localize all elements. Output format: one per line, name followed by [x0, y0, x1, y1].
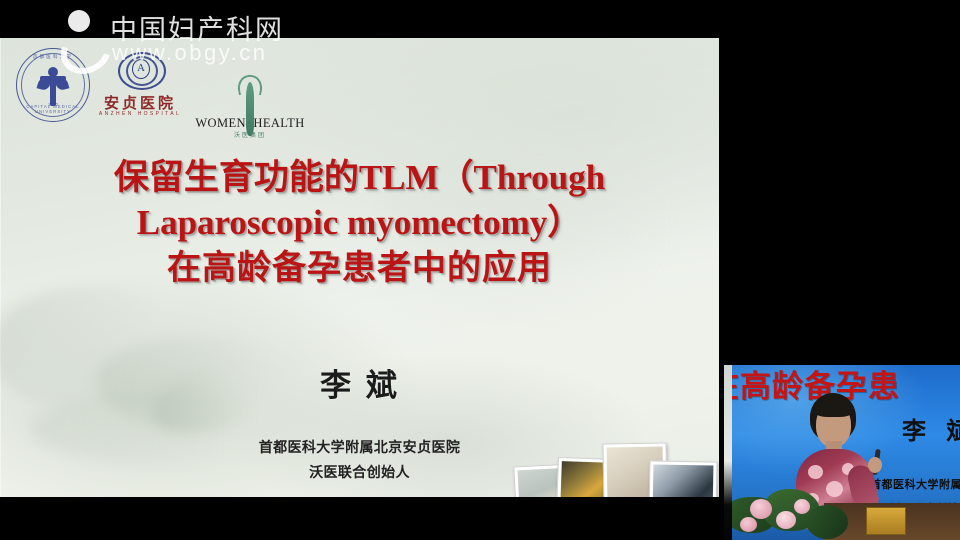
slide-title-line-3: 在高龄备孕患者中的应用 — [0, 246, 719, 292]
women-health-logo-icon: WOMEN+HEALTH 沃医集团 — [190, 78, 310, 152]
presentation-slide: 首都医科大学 1960 CAPITAL MEDICAL UNIVERSITY A… — [0, 38, 719, 497]
pip-left-edge-strip — [724, 365, 732, 540]
women-health-subtitle: 沃医集团 — [190, 130, 310, 139]
collage-photo-laboratory — [648, 460, 717, 497]
pip-backdrop-speaker-name: 李 斌 — [902, 411, 960, 446]
anzhen-monogram: A — [132, 59, 150, 79]
anzhen-name-en: ANZHEN HOSPITAL — [96, 111, 184, 117]
slide-photo-collage — [505, 433, 719, 497]
women-health-word-left: WOMEN — [195, 116, 246, 130]
slide-title-line-1: 保留生育功能的TLM（Through — [0, 156, 719, 200]
capital-medical-university-logo-icon: 首都医科大学 1960 CAPITAL MEDICAL UNIVERSITY — [16, 48, 90, 122]
video-player-stage: 首都医科大学 1960 CAPITAL MEDICAL UNIVERSITY A… — [0, 0, 960, 540]
slide-speaker-name: 李 斌 — [0, 360, 719, 405]
anzhen-hospital-logo-icon: A 安贞医院 ANZHEN HOSPITAL — [96, 90, 184, 152]
slide-title-block: 保留生育功能的TLM（Through Laparoscopic myomecto… — [0, 156, 719, 292]
speaker-video-inset[interactable]: 在高龄备孕患 李 斌 首都医科大学附属北京安贞医院 沃医联合创始人 — [724, 365, 960, 540]
pip-podium-plaque — [866, 507, 906, 535]
seal-top-text: 首都医科大学 — [16, 54, 90, 60]
anzhen-emblem-icon: A — [116, 52, 164, 92]
seal-bottom-text: CAPITAL MEDICAL UNIVERSITY — [16, 104, 90, 114]
pip-flower-arrangement — [724, 483, 844, 540]
women-health-word-right: HEALTH — [253, 116, 304, 130]
seal-figure-icon — [40, 68, 66, 106]
pip-backdrop-affiliation-1: 首都医科大学附属北京安贞医院 — [870, 476, 960, 492]
slide-logo-row: 首都医科大学 1960 CAPITAL MEDICAL UNIVERSITY A… — [0, 38, 719, 136]
anzhen-name-cn: 安贞医院 — [96, 92, 184, 113]
women-health-wordmark: WOMEN+HEALTH — [190, 116, 310, 131]
slide-title-line-2: Laparoscopic myomectomy） — [0, 200, 719, 246]
